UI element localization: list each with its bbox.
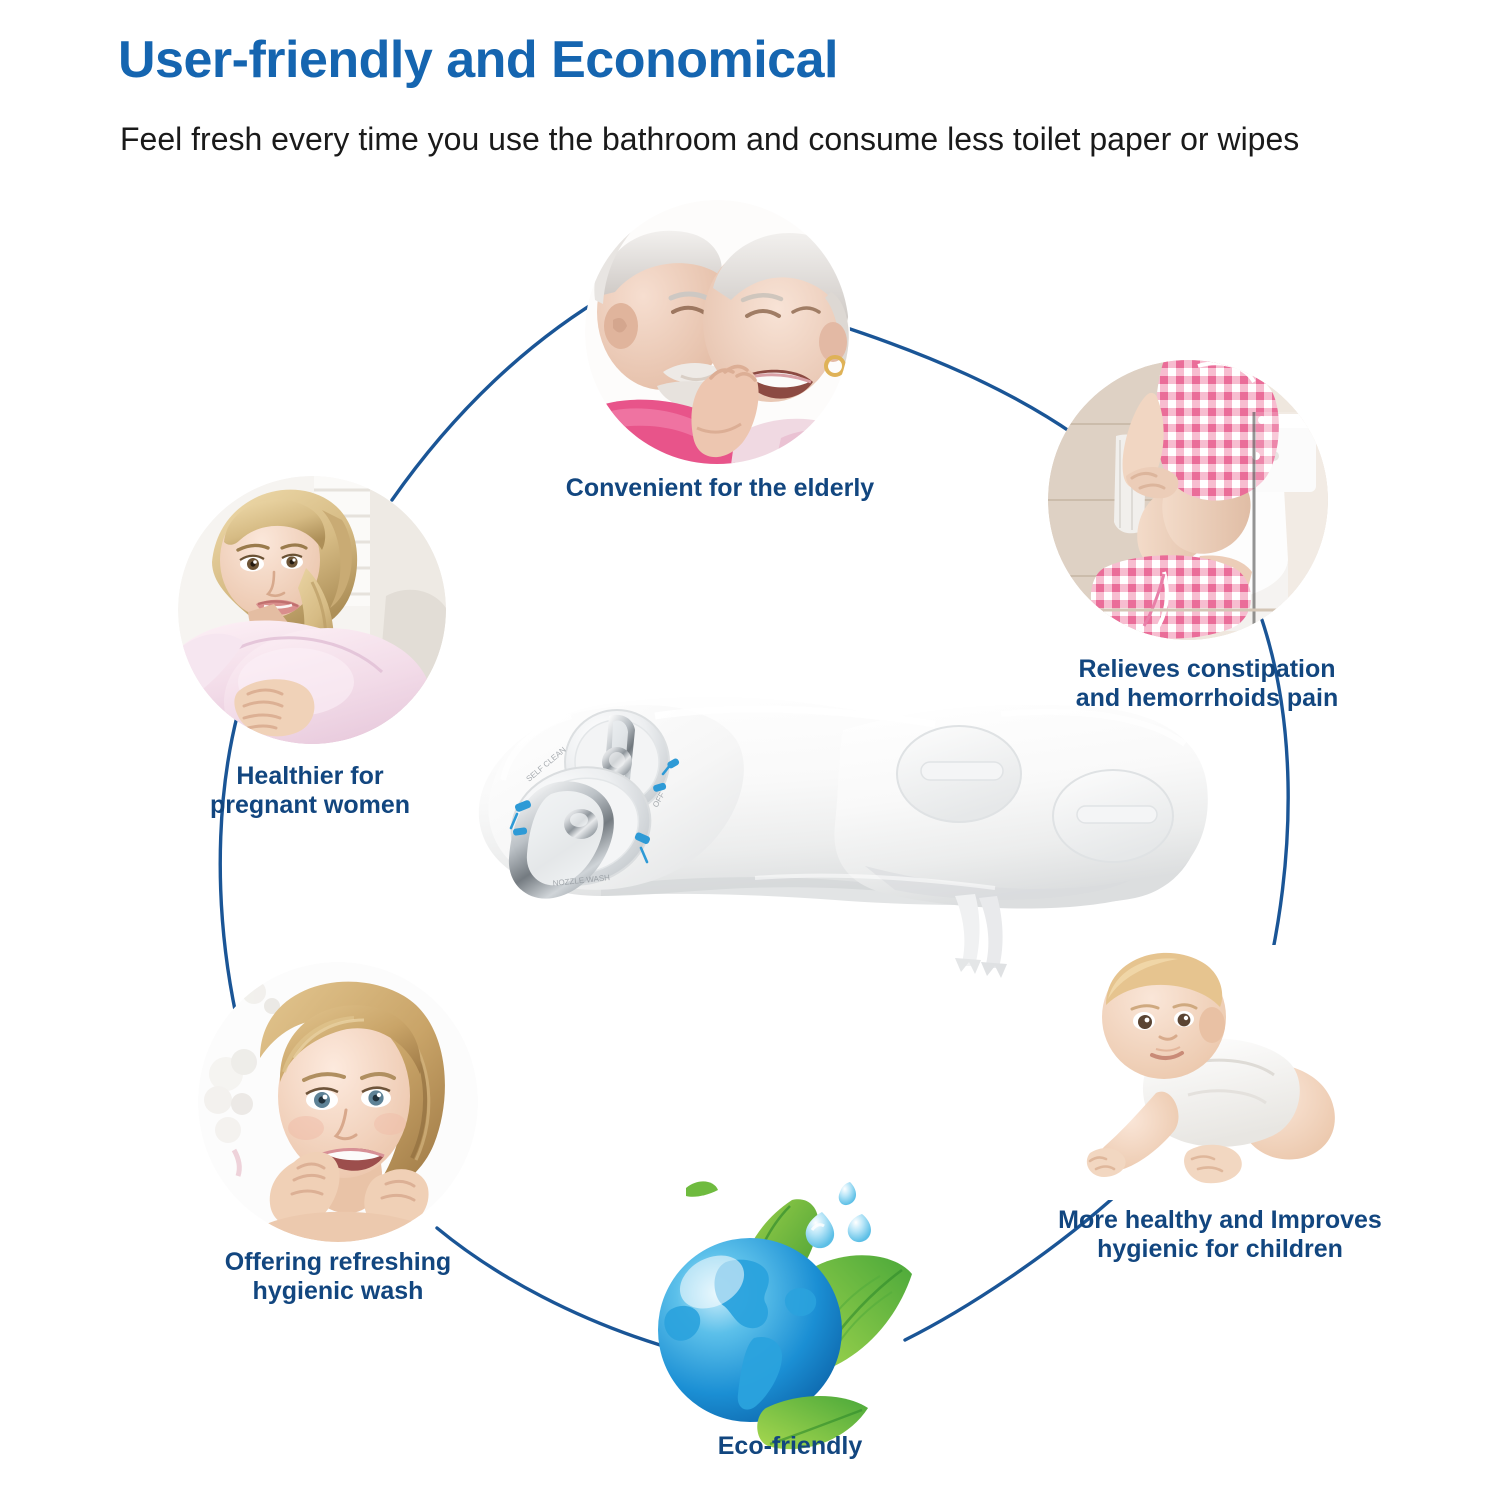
infographic-canvas: User-friendly and Economical Feel fresh … [0,0,1500,1500]
benefit-caption-children: More healthy and Improves hygienic for c… [1030,1206,1410,1264]
refreshed-woman-photo [198,962,478,1242]
benefit-caption-hygienic-wash: Offering refreshing hygienic wash [168,1248,508,1306]
non-electric-bidet-attachment: SELF CLEAN NOZZLE WASH OFF [395,690,1225,990]
person-on-toilet-photo [1048,360,1328,640]
elderly-couple-photo [585,200,850,465]
benefit-caption-elderly: Convenient for the elderly [470,474,970,503]
eco-globe-leaves-icon [640,1170,940,1455]
benefit-caption-eco: Eco-friendly [640,1432,940,1461]
